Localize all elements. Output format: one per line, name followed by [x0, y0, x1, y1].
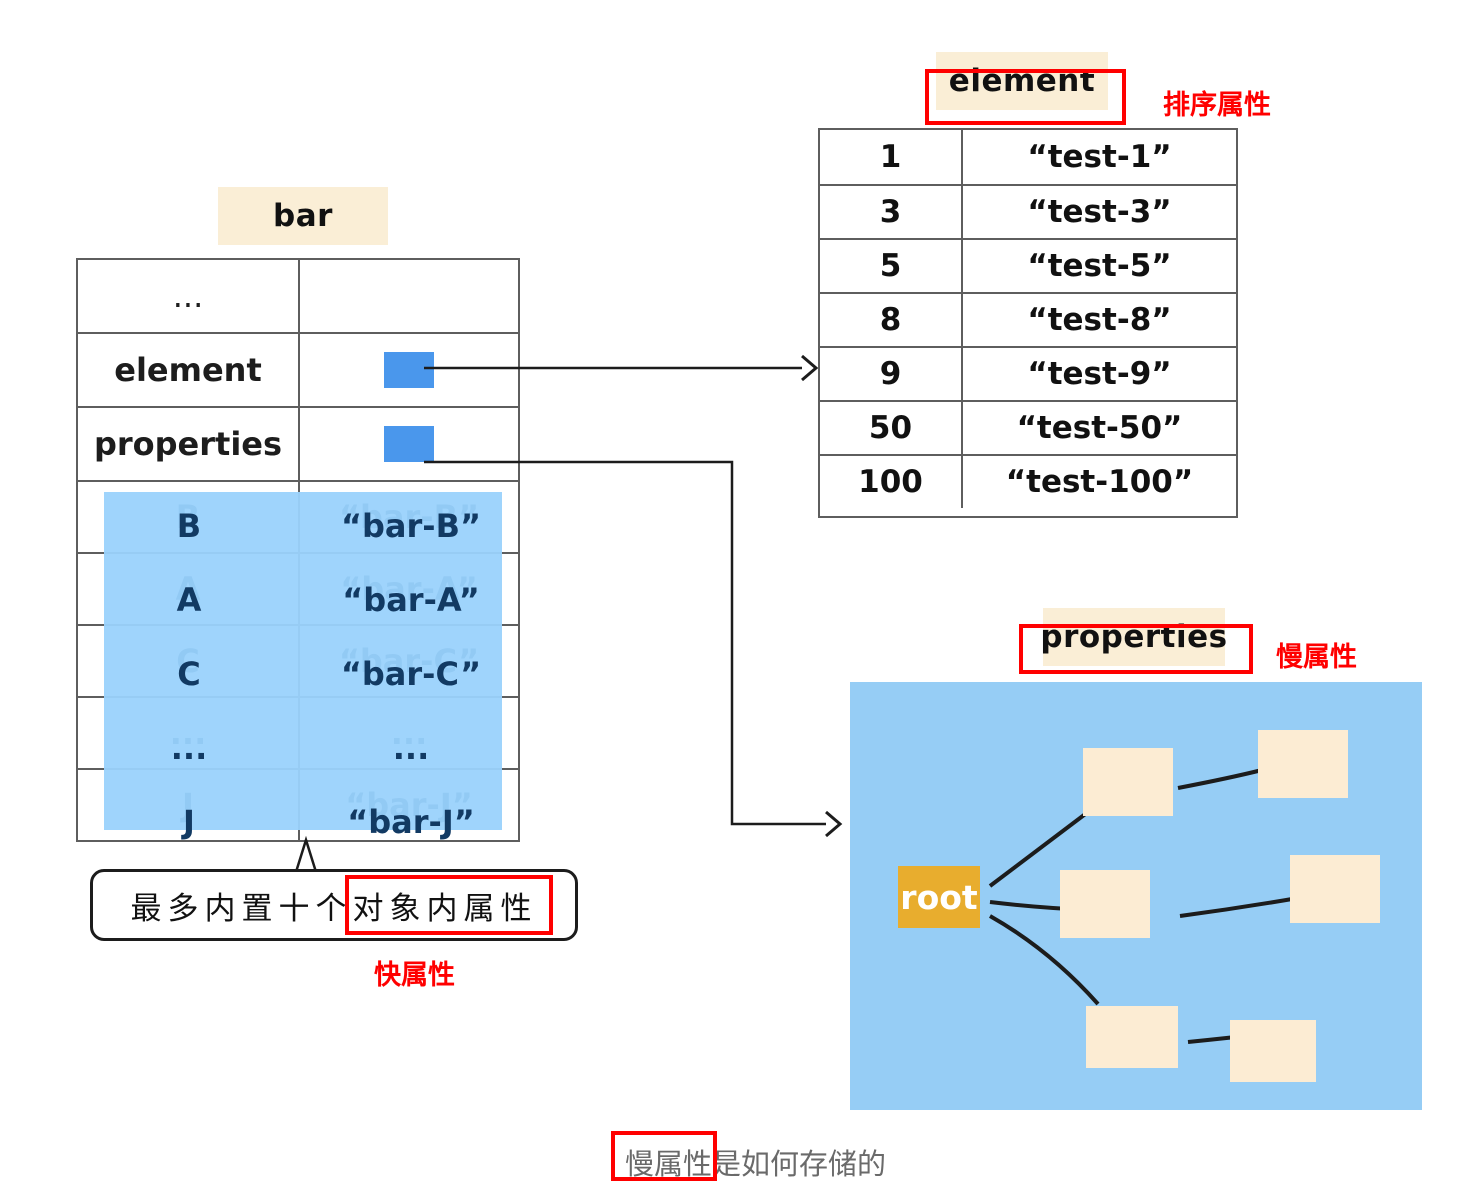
- properties-title-tag: properties: [1043, 608, 1225, 666]
- properties-pointer-arrow: [424, 440, 854, 840]
- element-title-tag: element: [936, 52, 1108, 110]
- callout-text-highlighted: 对象内属性: [353, 883, 538, 928]
- element-index: 100: [820, 456, 963, 508]
- bar-row-key-element: element: [78, 334, 300, 406]
- element-value: “test-5”: [963, 240, 1236, 292]
- properties-child-node-1: [1083, 748, 1173, 816]
- table-row: 100 “test-100”: [820, 454, 1236, 508]
- element-pointer-arrow: [424, 348, 824, 388]
- table-row: 1 “test-1”: [820, 130, 1236, 184]
- fast-properties-callout: 最多内置十个 对象内属性: [90, 869, 578, 941]
- properties-leaf-node-1: [1258, 730, 1348, 798]
- bar-row-key: ...: [76, 712, 302, 784]
- element-index: 1: [820, 130, 963, 184]
- element-red-label: 排序属性: [1163, 83, 1271, 122]
- bar-title-tag: bar: [218, 187, 388, 245]
- element-value: “test-9”: [963, 348, 1236, 400]
- element-value: “test-1”: [963, 130, 1236, 184]
- element-array-table: 1 “test-1” 3 “test-3” 5 “test-5” 8 “test…: [818, 128, 1238, 518]
- table-row: 5 “test-5”: [820, 238, 1236, 292]
- element-index: 3: [820, 186, 963, 238]
- element-index: 5: [820, 240, 963, 292]
- element-index: 9: [820, 348, 963, 400]
- callout-text-plain: 最多内置十个: [131, 883, 353, 928]
- element-value: “test-8”: [963, 294, 1236, 346]
- element-index: 8: [820, 294, 963, 346]
- properties-leaf-node-2: [1290, 855, 1380, 923]
- element-value: “test-3”: [963, 186, 1236, 238]
- root-node-label: root: [900, 878, 977, 917]
- bar-row-key: B: [76, 490, 302, 562]
- element-index: 50: [820, 402, 963, 454]
- properties-root-node: root: [898, 866, 980, 928]
- bar-row-key-properties: properties: [78, 408, 300, 480]
- element-value: “test-100”: [963, 456, 1236, 508]
- bar-row-key: C: [76, 638, 302, 710]
- bar-row-key: A: [76, 564, 302, 636]
- properties-child-node-2: [1060, 870, 1150, 938]
- table-row: 8 “test-8”: [820, 292, 1236, 346]
- bar-title-text: bar: [273, 198, 333, 234]
- bar-row-key: ...: [78, 260, 300, 332]
- element-value: “test-50”: [963, 402, 1236, 454]
- properties-red-label: 慢属性: [1276, 635, 1357, 674]
- table-row: 3 “test-3”: [820, 184, 1236, 238]
- table-row: 50 “test-50”: [820, 400, 1236, 454]
- bar-row-value: [300, 260, 518, 332]
- properties-title-text: properties: [1040, 619, 1227, 655]
- footer-caption: 慢属性是如何存储的: [625, 1141, 886, 1183]
- fast-properties-red-label: 快属性: [374, 953, 455, 992]
- table-row: ...: [78, 260, 518, 332]
- table-row: 9 “test-9”: [820, 346, 1236, 400]
- properties-child-node-3: [1086, 1006, 1178, 1068]
- element-title-text: element: [949, 63, 1095, 99]
- properties-leaf-node-3: [1230, 1020, 1316, 1082]
